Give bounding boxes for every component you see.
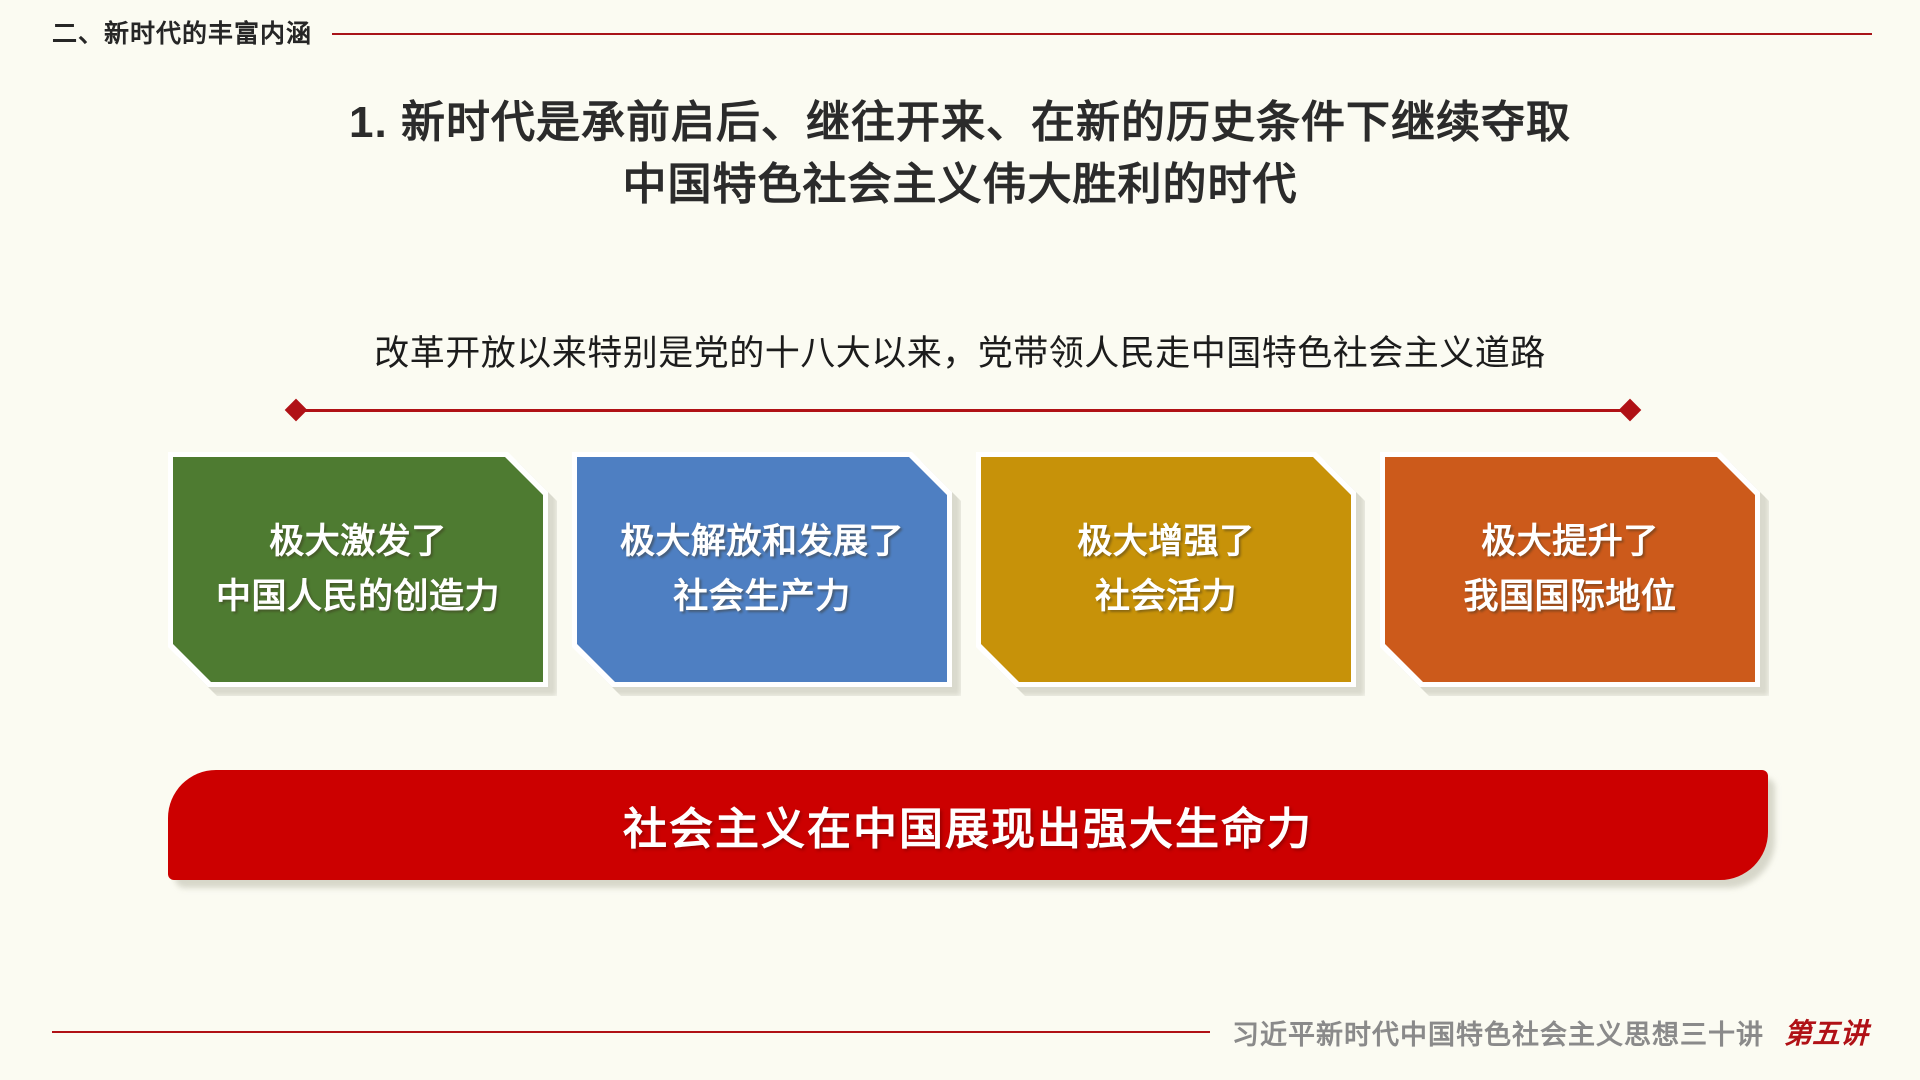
footer-rule xyxy=(52,1031,1210,1033)
diamond-divider xyxy=(288,400,1638,420)
card-item-4: 极大提升了 我国国际地位 xyxy=(1380,452,1760,687)
card-body-4: 极大提升了 我国国际地位 xyxy=(1385,457,1755,682)
card-item-1: 极大激发了 中国人民的创造力 xyxy=(168,452,548,687)
page-title: 1. 新时代是承前启后、继往开来、在新的历史条件下继续夺取 中国特色社会主义伟大… xyxy=(0,92,1920,217)
slide-root: 二、新时代的丰富内涵 1. 新时代是承前启后、继往开来、在新的历史条件下继续夺取… xyxy=(0,0,1920,1080)
card-2-line-2: 社会生产力 xyxy=(673,570,851,624)
conclusion-banner: 社会主义在中国展现出强大生命力 xyxy=(168,770,1768,880)
card-item-2: 极大解放和发展了 社会生产力 xyxy=(572,452,952,687)
banner-body: 社会主义在中国展现出强大生命力 xyxy=(168,770,1768,880)
card-body-3: 极大增强了 社会活力 xyxy=(981,457,1351,682)
card-1-line-2: 中国人民的创造力 xyxy=(216,570,500,624)
card-row: 极大激发了 中国人民的创造力 极大解放和发展了 社会生产力 极大增强了 社会活力 xyxy=(168,452,1768,692)
subtitle-text: 改革开放以来特别是党的十八大以来，党带领人民走中国特色社会主义道路 xyxy=(0,325,1920,376)
card-body-1: 极大激发了 中国人民的创造力 xyxy=(173,457,543,682)
page-title-line-1: 1. 新时代是承前启后、继往开来、在新的历史条件下继续夺取 xyxy=(0,92,1920,154)
section-header-label: 二、新时代的丰富内涵 xyxy=(52,14,312,50)
page-title-line-2: 中国特色社会主义伟大胜利的时代 xyxy=(0,154,1920,216)
card-3-line-1: 极大增强了 xyxy=(1077,515,1255,569)
banner-text: 社会主义在中国展现出强大生命力 xyxy=(623,793,1313,857)
card-body-2: 极大解放和发展了 社会生产力 xyxy=(577,457,947,682)
card-4-line-1: 极大提升了 xyxy=(1481,515,1659,569)
card-item-3: 极大增强了 社会活力 xyxy=(976,452,1356,687)
card-1-line-1: 极大激发了 xyxy=(269,515,447,569)
divider-bar xyxy=(298,409,1628,412)
card-3-line-2: 社会活力 xyxy=(1095,570,1237,624)
card-4-line-2: 我国国际地位 xyxy=(1463,570,1676,624)
section-header: 二、新时代的丰富内涵 xyxy=(52,14,1872,50)
section-header-rule xyxy=(332,33,1872,35)
card-2-line-1: 极大解放和发展了 xyxy=(620,515,904,569)
footer-title: 习近平新时代中国特色社会主义思想三十讲 xyxy=(1232,1013,1764,1052)
footer: 习近平新时代中国特色社会主义思想三十讲 第五讲 xyxy=(52,1012,1868,1052)
footer-lecture-label: 第五讲 xyxy=(1784,1012,1868,1052)
diamond-marker-right-icon xyxy=(1619,399,1642,422)
